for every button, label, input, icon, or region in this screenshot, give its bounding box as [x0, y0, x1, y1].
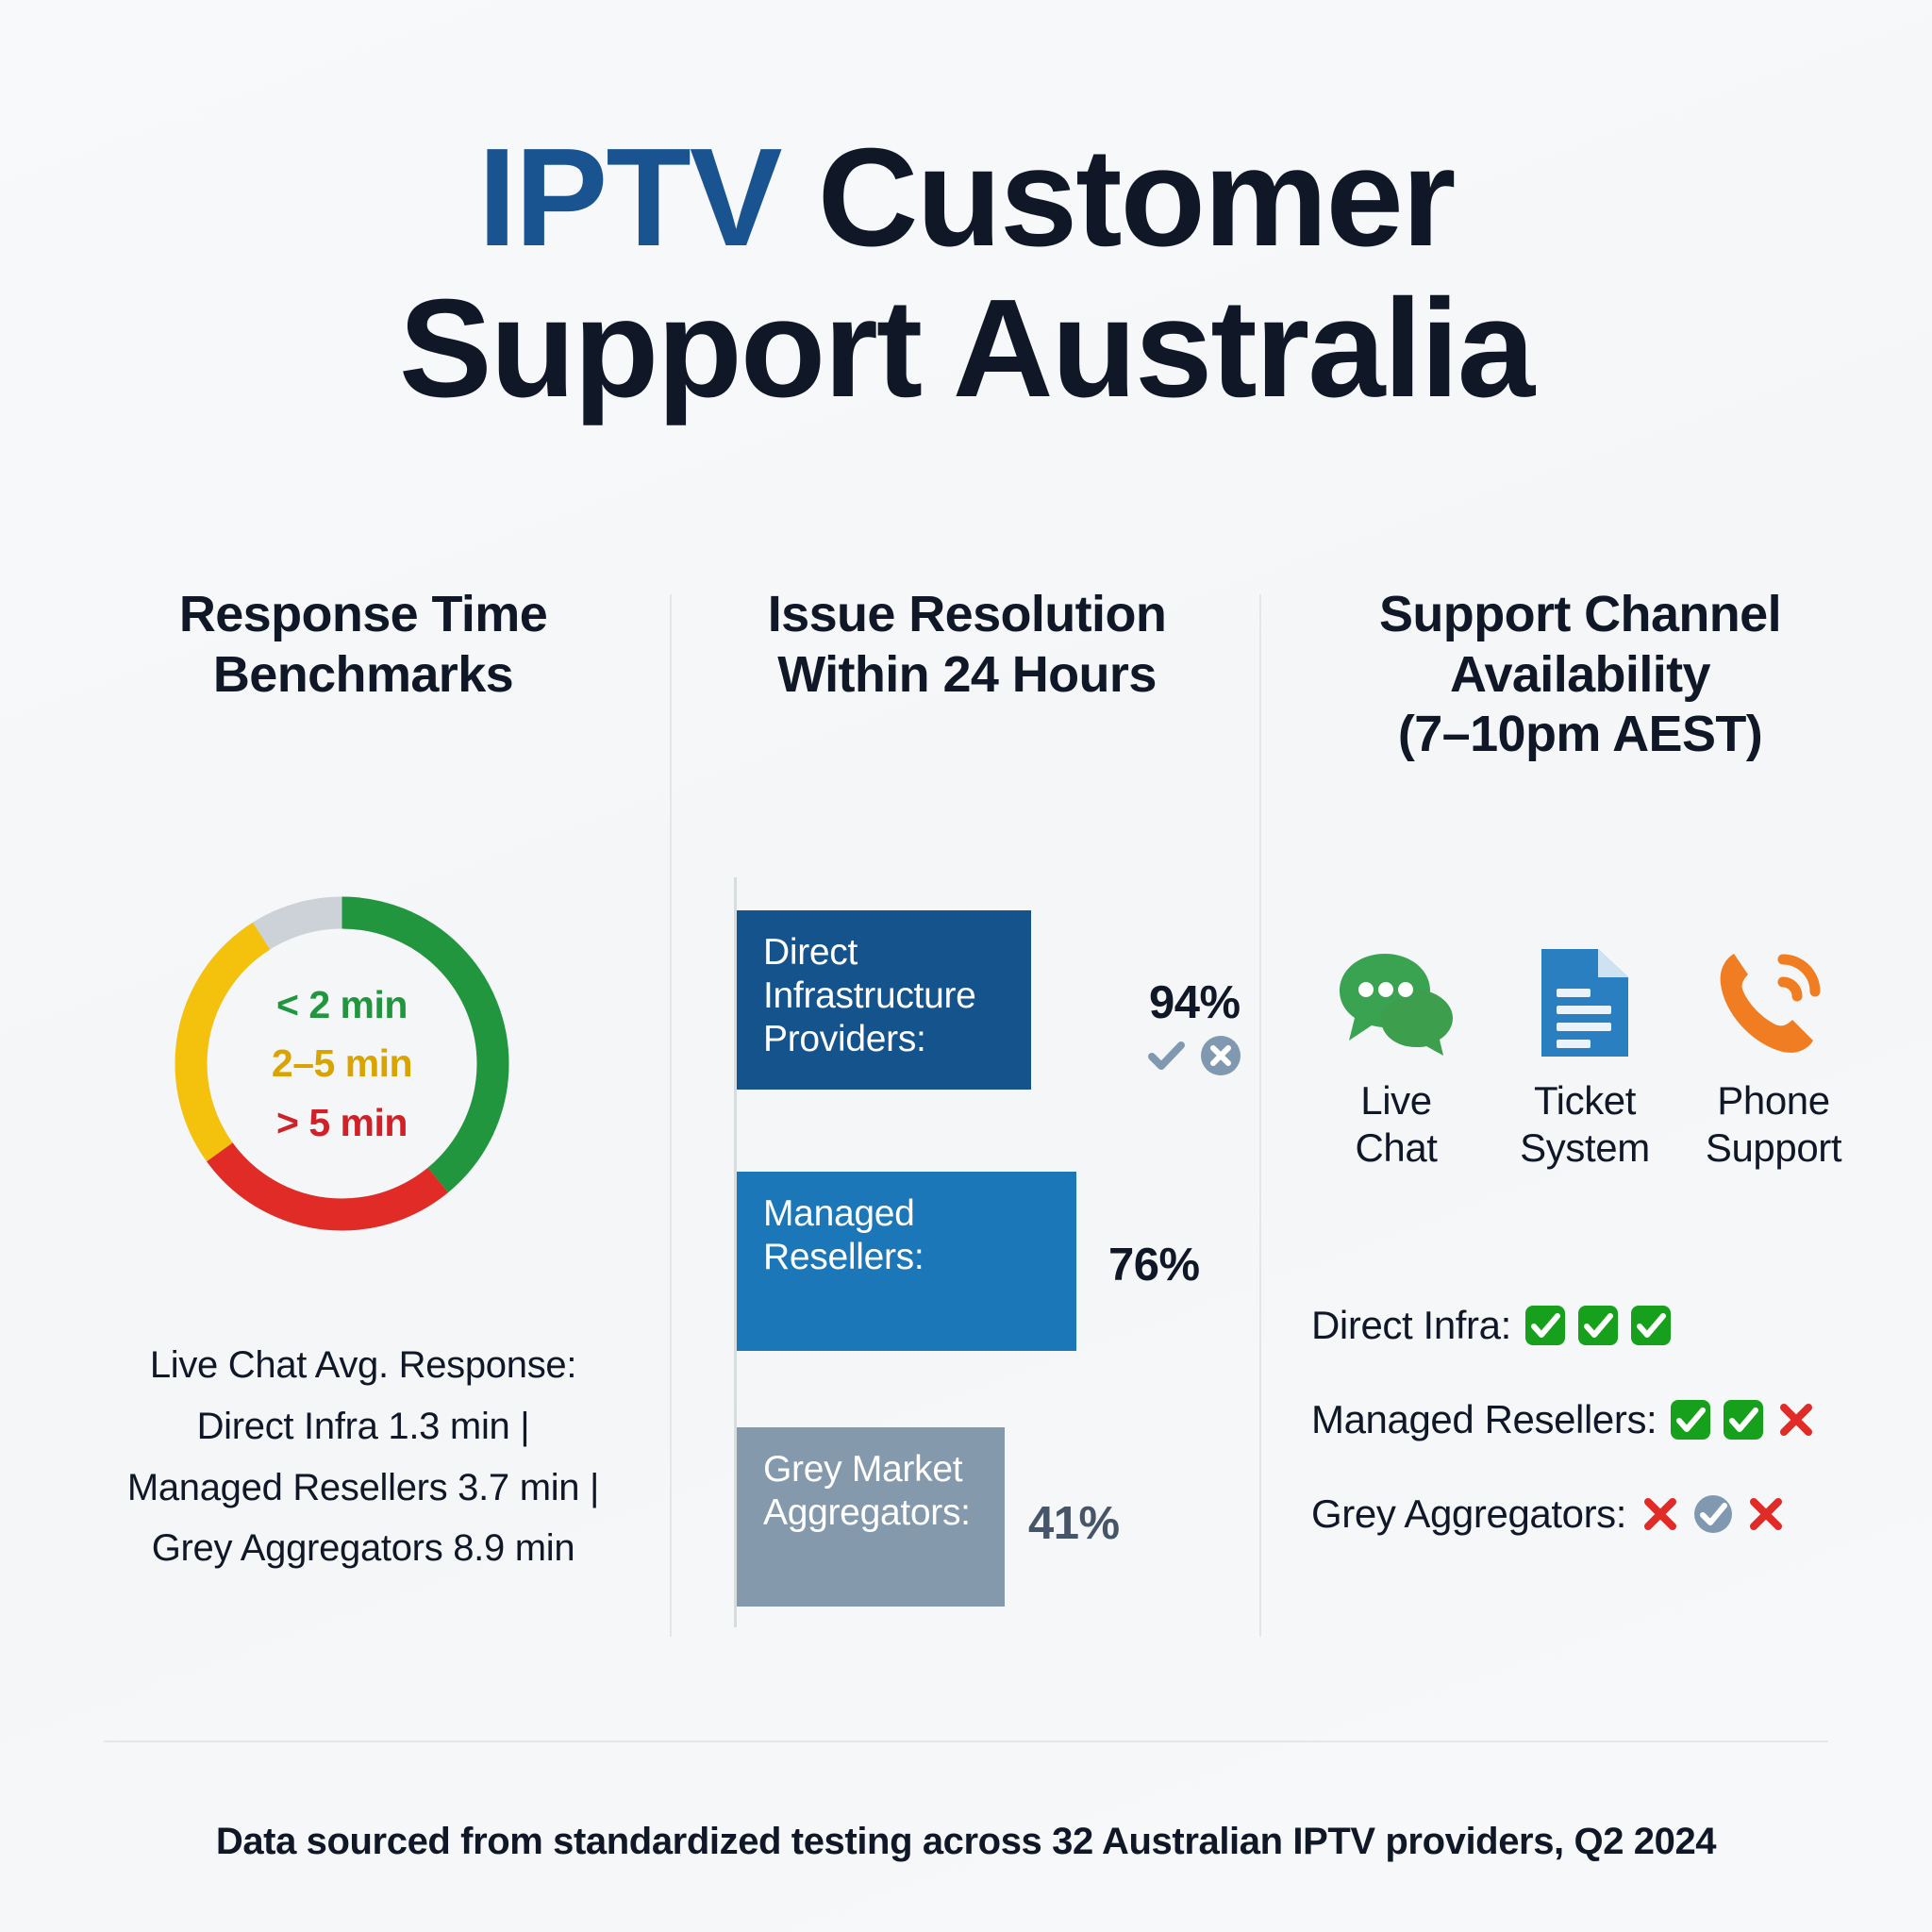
note-line-3: Managed Resellers 3.7 min | [85, 1457, 641, 1519]
bar-value-direct-infrastructure: 94% [1149, 976, 1241, 1029]
note-line-4: Grey Aggregators 8.9 min [85, 1518, 641, 1579]
donut-legend-under-2-min: < 2 min [276, 975, 408, 1034]
availability-marks-direct-infra [1523, 1303, 1674, 1348]
channel-label-ticket-system-line2: System [1500, 1124, 1670, 1172]
column-heading-issue-resolution: Issue Resolution Within 24 Hours [698, 585, 1236, 705]
availability-label-grey-aggregators: Grey Aggregators: [1311, 1491, 1626, 1537]
title-accent: IPTV [478, 120, 781, 275]
channel-live-chat[interactable]: Live Chat [1311, 943, 1481, 1173]
channel-label-ticket-system: Ticket System [1500, 1077, 1670, 1173]
bar-label-grey-market-aggregators: Grey Market Aggregators: [763, 1448, 1005, 1535]
availability-label-direct-infra: Direct Infra: [1311, 1303, 1511, 1348]
check-green-icon [1575, 1303, 1621, 1348]
check-icon [1143, 1033, 1189, 1078]
x-red-icon [1638, 1491, 1683, 1537]
check-grey-icon [1690, 1491, 1736, 1537]
bar-row-grey-market-aggregators: Grey Market Aggregators: [737, 1427, 1005, 1607]
support-heading-line-1: Support Channel [1292, 585, 1868, 645]
title-line-1-rest: Customer [781, 120, 1455, 275]
check-green-icon [1523, 1303, 1568, 1348]
bar-value-managed-resellers: 76% [1108, 1239, 1200, 1291]
check-green-icon [1721, 1397, 1766, 1442]
donut-legend-2-5-min: 2–5 min [272, 1034, 412, 1092]
footer-source-note: Data sourced from standardized testing a… [0, 1821, 1932, 1863]
footer-divider [104, 1740, 1828, 1742]
availability-row-direct-infra: Direct Infra: [1311, 1278, 1877, 1373]
channel-label-phone-support-line2: Support [1689, 1124, 1858, 1172]
donut-legend-over-5-min: > 5 min [276, 1093, 408, 1152]
note-line-2: Direct Infra 1.3 min | [85, 1396, 641, 1457]
channel-label-live-chat: Live Chat [1311, 1077, 1481, 1173]
bar-row-direct-infrastructure: Direct Infrastructure Providers: [737, 910, 1031, 1090]
column-issue-resolution: Issue Resolution Within 24 Hours [698, 585, 1236, 705]
availability-row-grey-aggregators: Grey Aggregators: [1311, 1467, 1877, 1561]
availability-row-managed-resellers: Managed Resellers: [1311, 1373, 1877, 1467]
circle-x-icon [1198, 1033, 1243, 1078]
channel-label-live-chat-line2: Chat [1311, 1124, 1481, 1172]
infographic-page: IPTV Customer Support Australia Response… [0, 0, 1932, 1932]
channel-label-phone-support-line1: Phone [1689, 1077, 1858, 1124]
bar-row-managed-resellers: Managed Resellers: [737, 1172, 1076, 1351]
bar-direct-infrastructure: Direct Infrastructure Providers: [737, 910, 1031, 1090]
note-line-1: Live Chat Avg. Response: [85, 1335, 641, 1396]
bar-managed-resellers: Managed Resellers: [737, 1172, 1076, 1351]
phone-ring-icon [1689, 943, 1858, 1064]
bar-mini-icons-direct-infrastructure [1143, 1033, 1243, 1078]
channel-phone-support[interactable]: Phone Support [1689, 943, 1858, 1173]
support-channel-list: Live Chat Ticket System [1311, 943, 1858, 1173]
check-green-icon [1668, 1397, 1713, 1442]
column-heading-support-availability: Support Channel Availability (7–10pm AES… [1292, 585, 1868, 765]
channel-label-ticket-system-line1: Ticket [1500, 1077, 1670, 1124]
x-red-icon [1774, 1397, 1819, 1442]
channel-ticket-system[interactable]: Ticket System [1500, 943, 1670, 1173]
column-support-availability: Support Channel Availability (7–10pm AES… [1292, 585, 1868, 765]
document-icon [1500, 943, 1670, 1064]
availability-marks-managed-resellers [1668, 1397, 1819, 1442]
channel-label-phone-support: Phone Support [1689, 1077, 1858, 1173]
page-title: IPTV Customer Support Australia [0, 123, 1932, 425]
live-chat-response-note: Live Chat Avg. Response: Direct Infra 1.… [85, 1335, 641, 1579]
bar-value-grey-market-aggregators: 41% [1028, 1497, 1120, 1550]
column-heading-response-time: Response Time Benchmarks [85, 585, 641, 705]
availability-matrix: Direct Infra: Managed Resellers: [1311, 1278, 1877, 1561]
support-heading-line-3: (7–10pm AEST) [1292, 705, 1868, 765]
bar-label-direct-infrastructure: Direct Infrastructure Providers: [763, 931, 1031, 1061]
support-heading-line-2: Availability [1292, 645, 1868, 706]
availability-label-managed-resellers: Managed Resellers: [1311, 1397, 1657, 1442]
column-divider-left [670, 594, 672, 1637]
response-time-donut-chart: < 2 min 2–5 min > 5 min [165, 887, 519, 1241]
title-line-1: IPTV Customer [0, 123, 1932, 274]
column-divider-right [1259, 594, 1261, 1637]
bar-label-managed-resellers: Managed Resellers: [763, 1192, 1076, 1279]
check-green-icon [1628, 1303, 1674, 1348]
x-red-icon [1743, 1491, 1789, 1537]
channel-label-live-chat-line1: Live [1311, 1077, 1481, 1124]
column-response-time: Response Time Benchmarks [85, 585, 641, 705]
donut-legend: < 2 min 2–5 min > 5 min [165, 887, 519, 1241]
title-line-2: Support Australia [0, 274, 1932, 425]
availability-marks-grey-aggregators [1638, 1491, 1789, 1537]
bar-grey-market-aggregators: Grey Market Aggregators: [737, 1427, 1005, 1607]
chat-bubbles-icon [1311, 943, 1481, 1064]
